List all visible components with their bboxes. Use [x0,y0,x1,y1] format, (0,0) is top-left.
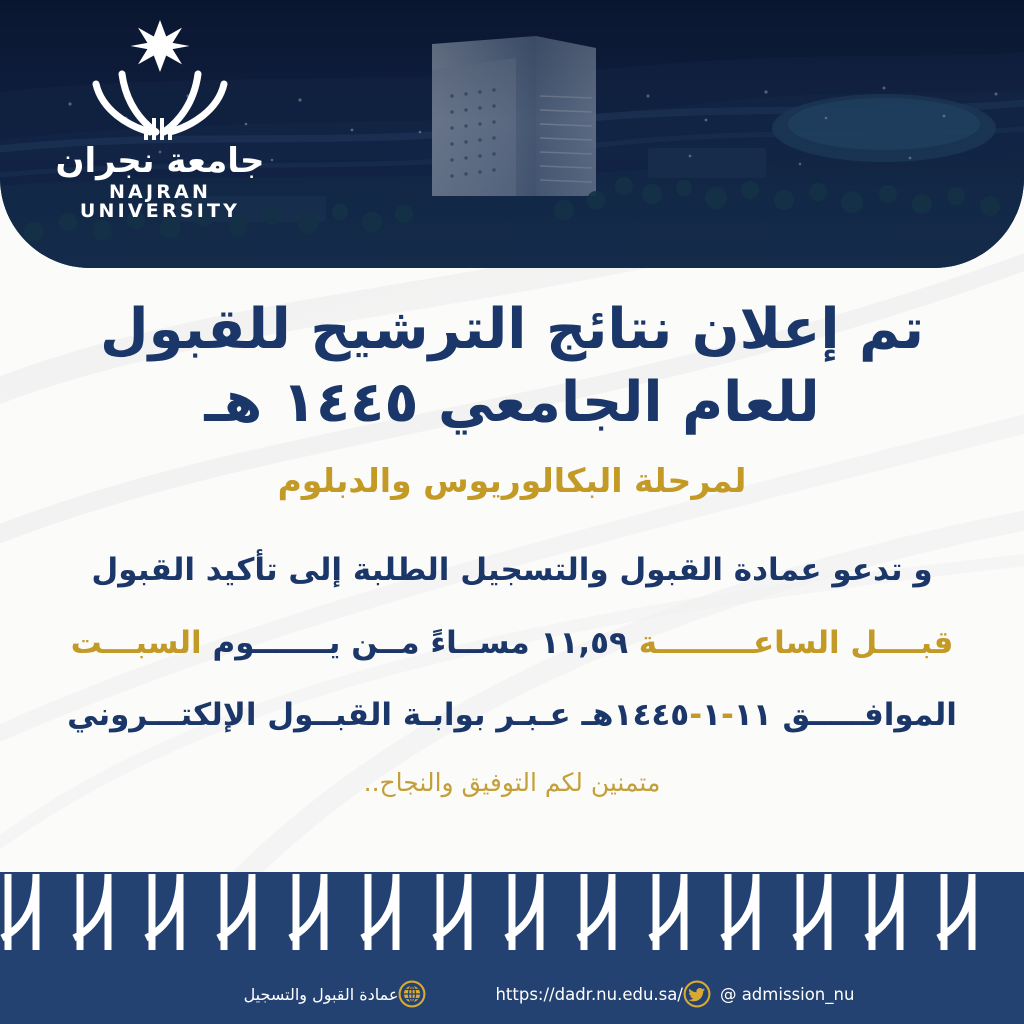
footer-website-url: https://dadr.nu.edu.sa/ [495,985,682,1004]
najran-university-star-arcs-logo-icon [76,18,244,146]
zigzag-arc-pattern-band-icon [0,872,1024,964]
closing-wish: متمنين لكم التوفيق والنجاح.. [56,767,968,800]
hijri-date-dash-2: - [689,697,702,733]
body-line-1: و تدعو عمادة القبول والتسجيل الطلبة إلى … [56,550,968,590]
poster-header: جامعة نجران NAJRAN UNIVERSITY [0,0,1024,268]
subheadline: لمرحلة البكالوريوس والدبلوم [56,460,968,503]
deadline-time-label: قبــــل الساعـــــــــة [639,625,954,661]
announcement-poster: جامعة نجران NAJRAN UNIVERSITY تم إعلان ن… [0,0,1024,1024]
logo-english-name: NAJRAN UNIVERSITY [24,183,296,221]
headline-line-2: للعام الجامعي ١٤٤٥ هـ [56,367,968,440]
announcement-body: و تدعو عمادة القبول والتسجيل الطلبة إلى … [56,550,968,735]
deadline-time-value: ١١,٥٩ مســاءً مــن يـــــــوم [212,625,628,661]
poster-footer: عمادة القبول والتسجيل https://dadr.nu.ed… [0,872,1024,1024]
hijri-date-suffix-and-portal: ١٤٤٥هـ عـبـر بوابـة القبــول الإلكتـــرو… [67,697,689,733]
footer-twitter-handle: @ admission_nu [720,985,854,1004]
hijri-date-dash-1: - [721,697,734,733]
body-line-3: الموافـــــق ١١-١-١٤٤٥هـ عـبـر بوابـة ال… [56,695,968,735]
globe-icon [398,980,426,1008]
footer-deanship-label: عمادة القبول والتسجيل [244,985,399,1004]
logo-arabic-name: جامعة نجران [24,144,296,178]
footer-twitter-link[interactable]: @ admission_nu [683,980,854,1008]
footer-website-link[interactable]: https://dadr.nu.edu.sa/ [398,980,682,1008]
deadline-weekday: السبـــت [71,625,202,661]
page-title: تم إعلان نتائج الترشيح للقبول للعام الجا… [56,294,968,440]
hijri-date-month: ١ [702,697,721,733]
hijri-date-prefix: الموافـــــق ١١ [734,697,957,733]
body-line-2: قبــــل الساعـــــــــة ١١,٥٩ مســاءً مـ… [56,623,968,663]
university-logo: جامعة نجران NAJRAN UNIVERSITY [24,18,296,214]
twitter-bird-icon [683,980,711,1008]
poster-body: تم إعلان نتائج الترشيح للقبول للعام الجا… [0,268,1024,868]
headline-line-1: تم إعلان نتائج الترشيح للقبول [56,294,968,367]
footer-contact-bar: عمادة القبول والتسجيل https://dadr.nu.ed… [0,964,1024,1024]
